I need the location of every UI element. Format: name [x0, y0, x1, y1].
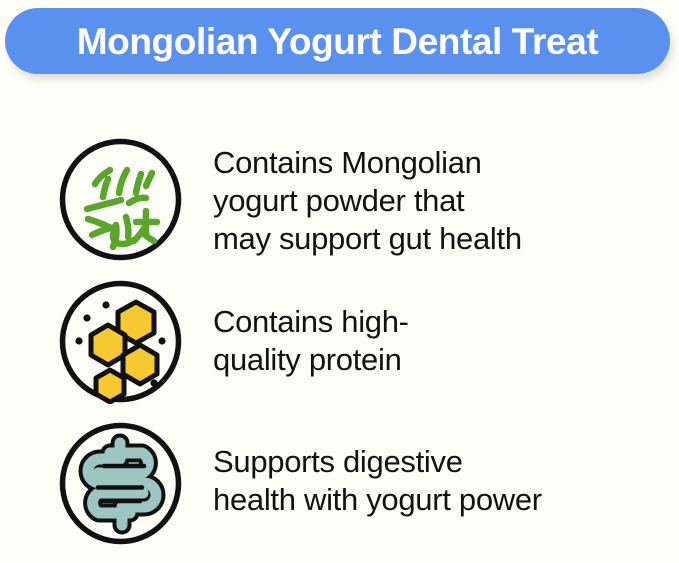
feature-item-protein: Contains high- quality protein: [0, 279, 679, 404]
bacteria-probiotic-icon: [58, 137, 183, 262]
feature-line: Contains Mongolian: [213, 144, 679, 182]
feature-line: health with yogurt power: [213, 481, 679, 519]
header-banner: Mongolian Yogurt Dental Treat: [5, 8, 670, 74]
feature-text-digestive: Supports digestive health with yogurt po…: [183, 421, 679, 519]
honeycomb-protein-icon: [58, 279, 183, 404]
feature-list: Contains Mongolian yogurt powder that ma…: [0, 96, 679, 563]
feature-text-protein: Contains high- quality protein: [183, 279, 679, 379]
feature-line: may support gut health: [213, 220, 679, 258]
feature-item-probiotic: Contains Mongolian yogurt powder that ma…: [0, 137, 679, 262]
feature-line: quality protein: [213, 341, 679, 379]
feature-line: yogurt powder that: [213, 182, 679, 220]
feature-line: Contains high-: [213, 303, 679, 341]
intestine-digestive-icon: [58, 421, 183, 546]
feature-item-digestive: Supports digestive health with yogurt po…: [0, 421, 679, 546]
page-title: Mongolian Yogurt Dental Treat: [77, 23, 599, 60]
feature-line: Supports digestive: [213, 443, 679, 481]
feature-text-probiotic: Contains Mongolian yogurt powder that ma…: [183, 137, 679, 258]
